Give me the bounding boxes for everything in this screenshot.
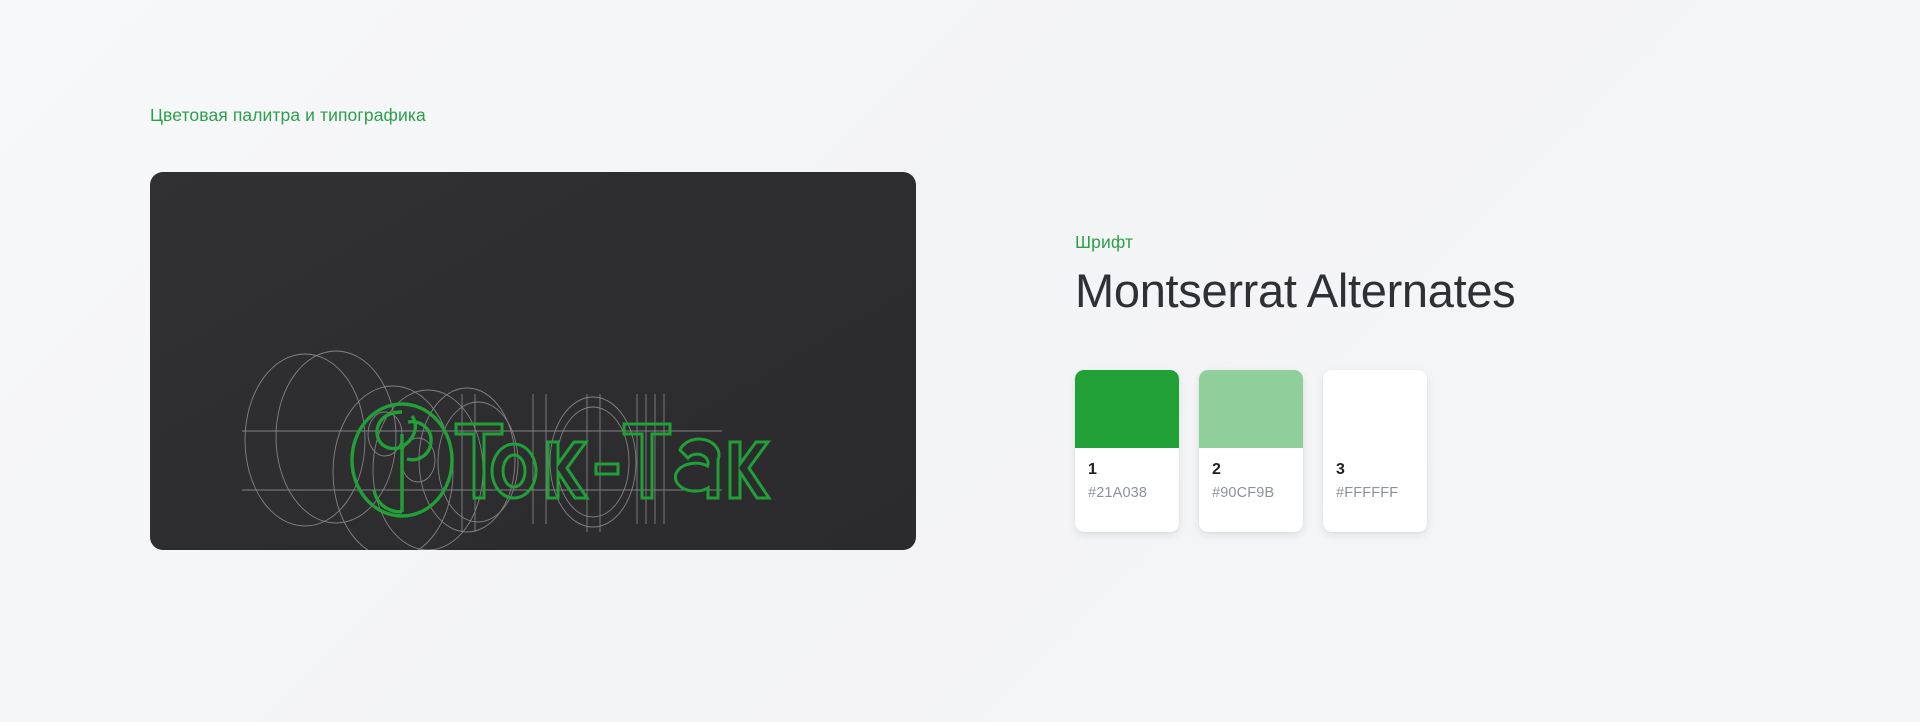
logo-construction-svg	[150, 172, 916, 550]
brand-guidelines-page: Цветовая палитра и типографика	[0, 0, 1920, 722]
typography-label: Шрифт	[1075, 232, 1515, 253]
swatch-index: 2	[1212, 460, 1290, 479]
swatch-card[interactable]: 3 #FFFFFF	[1323, 370, 1427, 532]
swatch-index: 1	[1088, 460, 1166, 479]
swatch-index: 3	[1336, 460, 1414, 479]
swatch-meta: 1 #21A038	[1075, 448, 1179, 501]
swatch-meta: 3 #FFFFFF	[1323, 448, 1427, 501]
swatch-color-chip	[1199, 370, 1303, 448]
logo-artwork	[150, 172, 916, 550]
swatch-color-chip	[1075, 370, 1179, 448]
swatch-meta: 2 #90CF9B	[1199, 448, 1303, 501]
logo-emblem	[352, 404, 452, 516]
color-palette: 1 #21A038 2 #90CF9B 3 #FFFFFF	[1075, 370, 1427, 532]
logo-wordmark	[456, 424, 769, 498]
swatch-card[interactable]: 2 #90CF9B	[1199, 370, 1303, 532]
swatch-hex-value: #90CF9B	[1212, 485, 1290, 501]
swatch-card[interactable]: 1 #21A038	[1075, 370, 1179, 532]
swatch-hex-value: #21A038	[1088, 485, 1166, 501]
font-name: Montserrat Alternates	[1075, 263, 1515, 318]
construction-guides	[242, 351, 722, 550]
swatch-color-chip	[1323, 370, 1427, 448]
page-title: Цветовая палитра и типографика	[150, 105, 426, 126]
logo-construction-panel	[150, 172, 916, 550]
typography-block: Шрифт Montserrat Alternates	[1075, 232, 1515, 318]
swatch-hex-value: #FFFFFF	[1336, 485, 1414, 501]
